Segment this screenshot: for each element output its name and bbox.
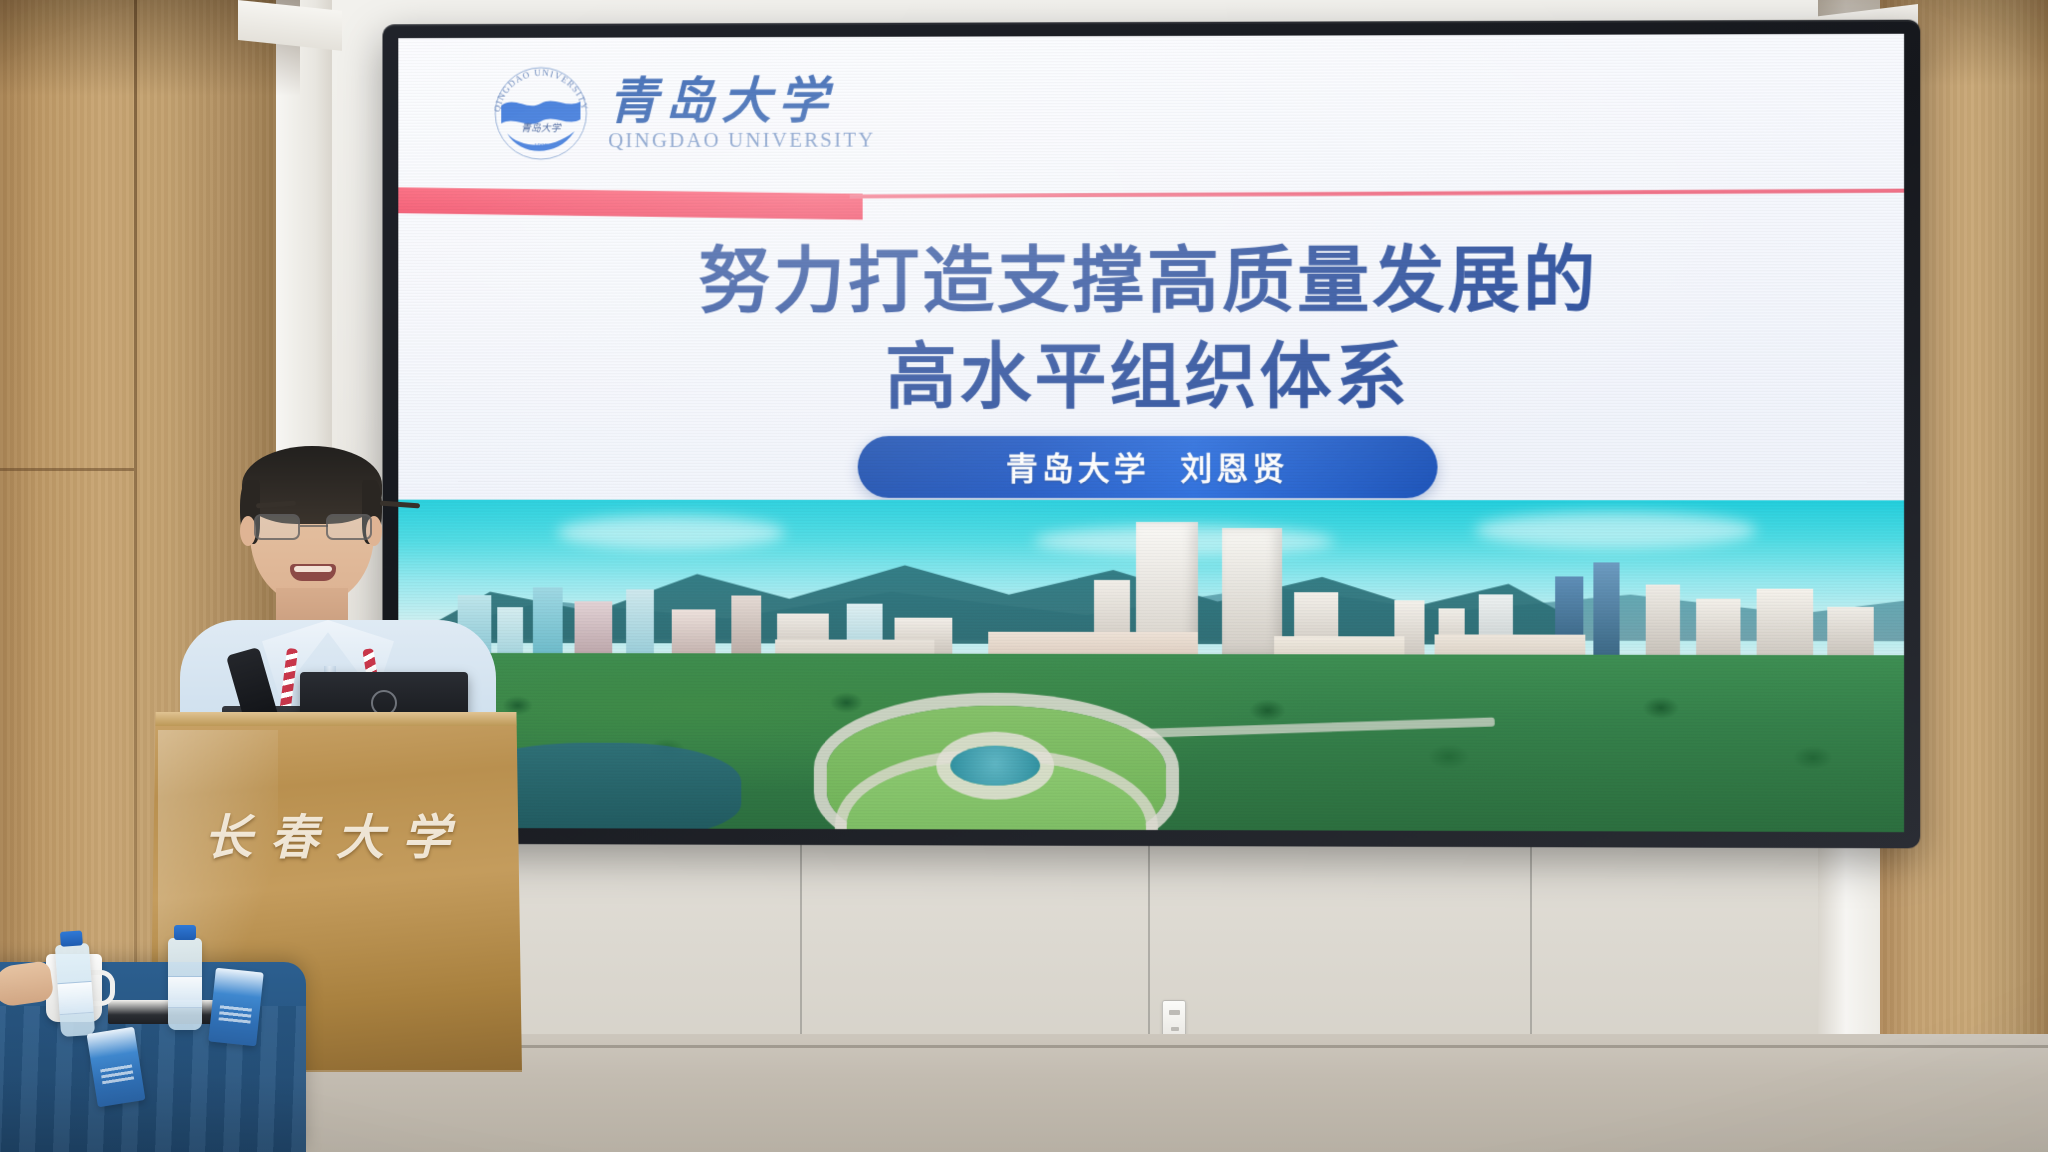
photo-building bbox=[626, 589, 654, 653]
photo-building bbox=[1696, 599, 1740, 655]
logo-wordmark-cn: 青岛大学 bbox=[608, 75, 875, 128]
photo-tower bbox=[1222, 528, 1282, 654]
bottle-label bbox=[168, 976, 202, 1008]
name-card-text bbox=[100, 1064, 134, 1085]
photo-building bbox=[1757, 589, 1814, 655]
wood-panel-seam-left-horizontal bbox=[0, 468, 134, 471]
water-bottle bbox=[168, 938, 202, 1030]
photo-building bbox=[1646, 585, 1680, 655]
presentation-scene: QINGDAO UNIVERSITY 青岛大学 1909 青岛大学 QINGDA… bbox=[0, 0, 2048, 1152]
bottle-cap bbox=[60, 930, 83, 946]
glasses-bridge bbox=[300, 525, 328, 527]
wall-panel-seam bbox=[800, 838, 802, 1060]
university-logo: QINGDAO UNIVERSITY 青岛大学 1909 青岛大学 QINGDA… bbox=[489, 61, 875, 166]
glasses-lens bbox=[326, 514, 372, 540]
lectern-engraved-text: 长春大学 bbox=[150, 798, 522, 868]
photo-building bbox=[533, 587, 563, 653]
presentation-slide: QINGDAO UNIVERSITY 青岛大学 1909 青岛大学 QINGDA… bbox=[398, 34, 1904, 832]
photo-building bbox=[731, 596, 761, 654]
name-card-tent bbox=[208, 968, 263, 1047]
accent-bar-thick bbox=[398, 187, 862, 219]
accent-bar-thin bbox=[850, 189, 1904, 199]
glasses-lens bbox=[254, 514, 300, 540]
name-card-text bbox=[219, 1004, 252, 1023]
svg-text:1909: 1909 bbox=[534, 141, 548, 149]
photo-fountain bbox=[950, 746, 1040, 786]
logo-wordmark: 青岛大学 QINGDAO UNIVERSITY bbox=[608, 75, 875, 151]
photo-building bbox=[672, 609, 716, 653]
speaker-pill-text: 青岛大学 刘恩贤 bbox=[1006, 444, 1288, 490]
campus-aerial-photo bbox=[398, 500, 1904, 833]
wall-panel-seam bbox=[1148, 838, 1150, 1060]
bottle-label bbox=[57, 981, 93, 1015]
photo-building bbox=[575, 601, 613, 653]
photo-cloud bbox=[557, 516, 785, 550]
presenter-eyebrow bbox=[380, 501, 420, 509]
presenter-mouth bbox=[290, 564, 336, 581]
led-display-surface[interactable]: QINGDAO UNIVERSITY 青岛大学 1909 青岛大学 QINGDA… bbox=[398, 34, 1904, 832]
water-bottle bbox=[55, 943, 95, 1037]
speaker-pill: 青岛大学 刘恩贤 bbox=[858, 436, 1438, 498]
glasses-icon bbox=[252, 514, 374, 540]
presenter-hair bbox=[242, 446, 382, 524]
photo-tower bbox=[1593, 562, 1619, 654]
svg-text:青岛大学: 青岛大学 bbox=[521, 122, 562, 134]
photo-building bbox=[1827, 607, 1873, 655]
wall-panel-seam bbox=[1530, 838, 1532, 1060]
bottle-cap bbox=[174, 925, 196, 940]
logo-wordmark-en: QINGDAO UNIVERSITY bbox=[608, 130, 875, 152]
university-emblem-icon: QINGDAO UNIVERSITY 青岛大学 1909 bbox=[489, 62, 592, 166]
wood-panel-seam-left bbox=[134, 0, 137, 1090]
slide-title-line-1: 努力打造支撑高质量发展的 bbox=[398, 231, 1904, 329]
photo-cloud bbox=[1475, 512, 1757, 548]
slide-title: 努力打造支撑高质量发展的 高水平组织体系 bbox=[398, 231, 1904, 425]
photo-building bbox=[497, 607, 523, 653]
slide-title-line-2: 高水平组织体系 bbox=[398, 328, 1904, 425]
led-display-frame[interactable]: QINGDAO UNIVERSITY 青岛大学 1909 青岛大学 QINGDA… bbox=[382, 20, 1920, 849]
